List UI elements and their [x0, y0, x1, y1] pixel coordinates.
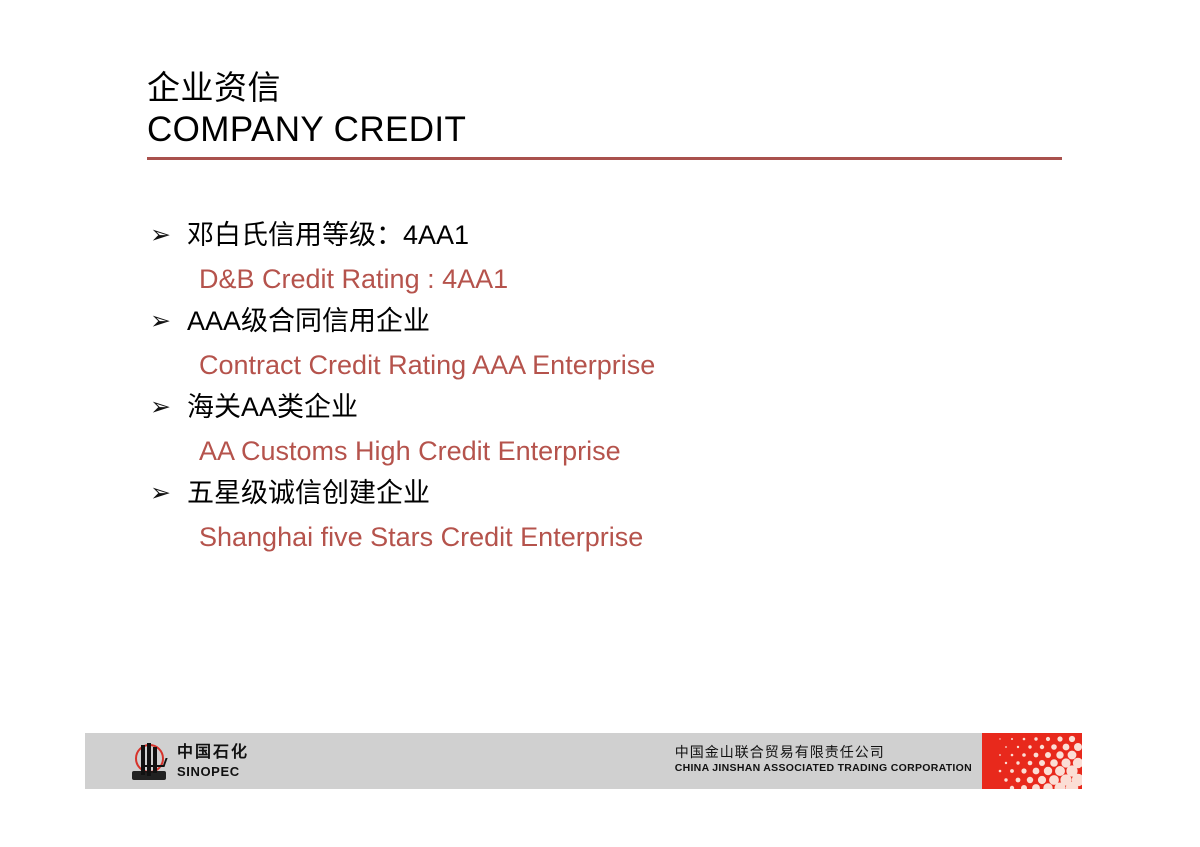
- bullet-label-english: Contract Credit Rating AAA Enterprise: [199, 344, 1097, 386]
- halftone-dots-icon: [982, 733, 1082, 789]
- slide-header: 企业资信 COMPANY CREDIT: [147, 68, 1062, 151]
- slide-footer: 中国石化 SINOPEC 中国金山联合贸易有限责任公司 CHINA JINSHA…: [85, 733, 1082, 789]
- logo-sweep-shape: [144, 758, 167, 767]
- arrow-bullet-icon: ➢: [147, 473, 187, 513]
- sinopec-name-chinese: 中国石化: [177, 745, 249, 761]
- bullet-label-english: Shanghai five Stars Credit Enterprise: [199, 516, 1097, 558]
- sinopec-logo-icon: [130, 741, 168, 781]
- sinopec-logo: 中国石化 SINOPEC: [130, 739, 249, 783]
- bullet-label-chinese: 五星级诚信创建企业: [187, 473, 430, 513]
- halftone-accent-block: [982, 733, 1082, 789]
- slide-canvas: 企业资信 COMPANY CREDIT ➢ 邓白氏信用等级：4AA1 D&B C…: [0, 0, 1200, 847]
- arrow-bullet-icon: ➢: [147, 387, 187, 427]
- bullet-label-chinese: AAA级合同信用企业: [187, 301, 430, 341]
- bullet-label-chinese: 邓白氏信用等级：4AA1: [187, 215, 469, 255]
- arrow-bullet-icon: ➢: [147, 215, 187, 255]
- company-name-chinese: 中国金山联合贸易有限责任公司: [675, 743, 972, 761]
- bullet-row: ➢ 海关AA类企业: [147, 387, 1097, 430]
- bullet-label-english: D&B Credit Rating : 4AA1: [199, 258, 1097, 300]
- bullet-row: ➢ 五星级诚信创建企业: [147, 473, 1097, 516]
- company-name-block: 中国金山联合贸易有限责任公司 CHINA JINSHAN ASSOCIATED …: [675, 743, 972, 775]
- page-title-chinese: 企业资信: [147, 68, 1062, 108]
- bullet-label-chinese: 海关AA类企业: [187, 387, 358, 427]
- list-item: ➢ 海关AA类企业 AA Customs High Credit Enterpr…: [147, 387, 1097, 473]
- bullet-label-english: AA Customs High Credit Enterprise: [199, 430, 1097, 472]
- arrow-bullet-icon: ➢: [147, 301, 187, 341]
- page-title-english: COMPANY CREDIT: [147, 108, 1062, 151]
- list-item: ➢ 邓白氏信用等级：4AA1 D&B Credit Rating : 4AA1: [147, 215, 1097, 301]
- credit-list: ➢ 邓白氏信用等级：4AA1 D&B Credit Rating : 4AA1 …: [147, 215, 1097, 559]
- bullet-row: ➢ 邓白氏信用等级：4AA1: [147, 215, 1097, 258]
- bullet-row: ➢ AAA级合同信用企业: [147, 301, 1097, 344]
- logo-base-shape: [132, 771, 166, 780]
- sinopec-name-english: SINOPEC: [177, 765, 249, 778]
- company-name-english: CHINA JINSHAN ASSOCIATED TRADING CORPORA…: [675, 761, 972, 775]
- list-item: ➢ AAA级合同信用企业 Contract Credit Rating AAA …: [147, 301, 1097, 387]
- sinopec-logo-text: 中国石化 SINOPEC: [177, 745, 249, 778]
- list-item: ➢ 五星级诚信创建企业 Shanghai five Stars Credit E…: [147, 473, 1097, 559]
- header-divider: [147, 157, 1062, 160]
